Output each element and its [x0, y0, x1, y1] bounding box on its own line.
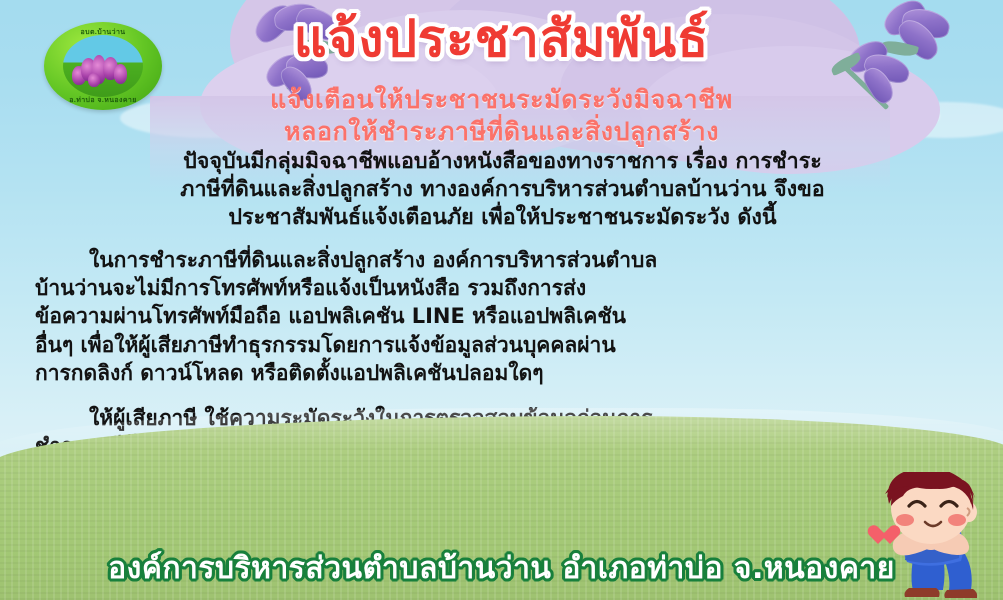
subtitle-block: แจ้งเตือนให้ประชาชนระมัดระวังมิจฉาชีพ หล… [0, 84, 1003, 148]
paragraph-line: การกดลิงก์ ดาวน์โหลด หรือติดตั้งแอปพลิเค… [35, 359, 979, 387]
paragraph-line: บ้านว่านจะไม่มีการโทรศัพท์หรือแจ้งเป็นหน… [35, 274, 979, 302]
heart-icon [873, 526, 895, 546]
announcement-poster: อบต.บ้านว่าน อ.ท่าบ่อ จ.หนองคาย แจ้งประช… [0, 0, 1003, 600]
paragraph-line: ภาษีที่ดินและสิ่งปลูกสร้าง ทางองค์การบริ… [26, 176, 979, 204]
page-title: แจ้งประชาสัมพันธ์ [0, 14, 1003, 66]
paragraph-line-text: ในการชำระภาษีที่ดินและสิ่งปลูกสร้าง องค์… [89, 248, 657, 272]
paragraph-line: ประชาสัมพันธ์แจ้งเตือนภัย เพื่อให้ประชาช… [26, 204, 979, 232]
subtitle-line: แจ้งเตือนให้ประชาชนระมัดระวังมิจฉาชีพ [0, 84, 1003, 116]
subtitle-line: หลอกให้ชำระภาษีที่ดินและสิ่งปลูกสร้าง [0, 116, 1003, 148]
title-block: แจ้งประชาสัมพันธ์ [0, 14, 1003, 66]
logo-flower [114, 64, 127, 84]
footer-organization-name: องค์การบริหารส่วนตำบลบ้านว่าน อำเภอท่าบ่… [0, 545, 1003, 592]
paragraph-1: ปัจจุบันมีกลุ่มมิจฉาชีพแอบอ้างหนังสือของ… [26, 148, 979, 232]
paragraph-2: ในการชำระภาษีที่ดินและสิ่งปลูกสร้าง องค์… [26, 246, 979, 387]
paragraph-line: ปัจจุบันมีกลุ่มมิจฉาชีพแอบอ้างหนังสือของ… [26, 148, 979, 176]
paragraph-line: ข้อความผ่านโทรศัพท์มือถือ แอปพลิเคชัน LI… [35, 302, 979, 330]
paragraph-line: ในการชำระภาษีที่ดินและสิ่งปลูกสร้าง องค์… [35, 246, 979, 274]
paragraph-line: อื่นๆ เพื่อให้ผู้เสียภาษีทำธุรกรรมโดยการ… [35, 331, 979, 359]
